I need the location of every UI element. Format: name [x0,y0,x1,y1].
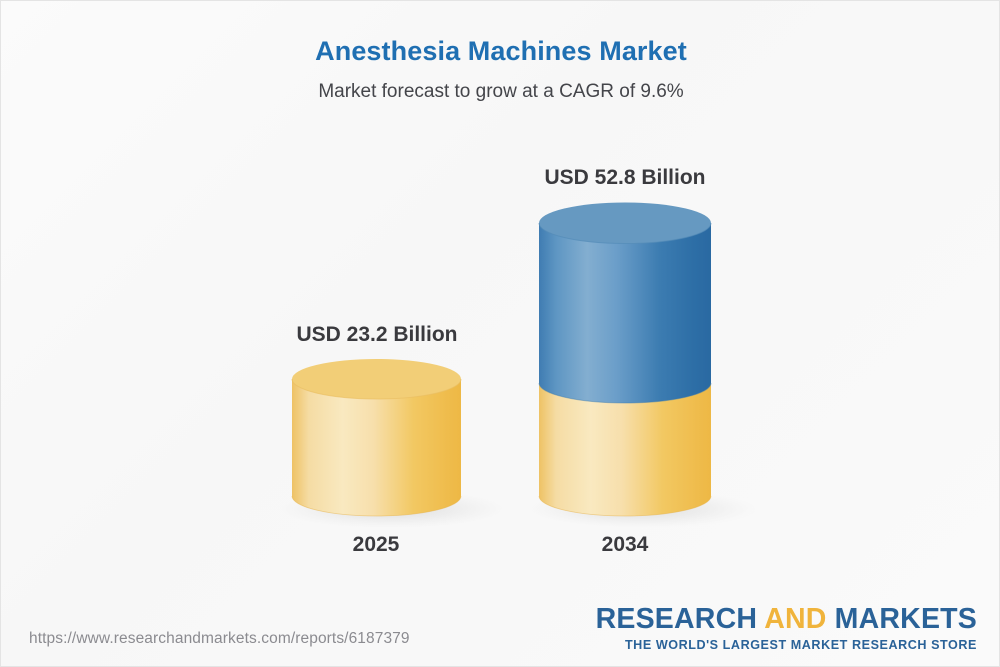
category-label-2034: 2034 [505,533,745,557]
logo-word-markets: MARKETS [835,603,977,635]
bar-2034 [528,203,756,529]
bar-2025-body [292,379,461,516]
report-url[interactable]: https://www.researchandmarkets.com/repor… [29,630,410,648]
data-label-2034: USD 52.8 Billion [475,166,775,190]
logo-tagline: THE WORLD'S LARGEST MARKET RESEARCH STOR… [596,638,977,652]
bar-2025 [281,359,505,528]
logo-word-research: RESEARCH [596,603,765,635]
researchandmarkets-logo[interactable]: RESEARCH AND MARKETS THE WORLD'S LARGEST… [596,605,977,653]
logo-wordmark: RESEARCH AND MARKETS [596,605,977,634]
data-label-2025: USD 23.2 Billion [227,323,527,347]
logo-word-and: AND [764,603,834,635]
chart-canvas: Anesthesia Machines Market Market foreca… [0,0,1000,667]
bar-2034-growth-segment [539,223,711,403]
category-label-2025: 2025 [256,533,496,557]
